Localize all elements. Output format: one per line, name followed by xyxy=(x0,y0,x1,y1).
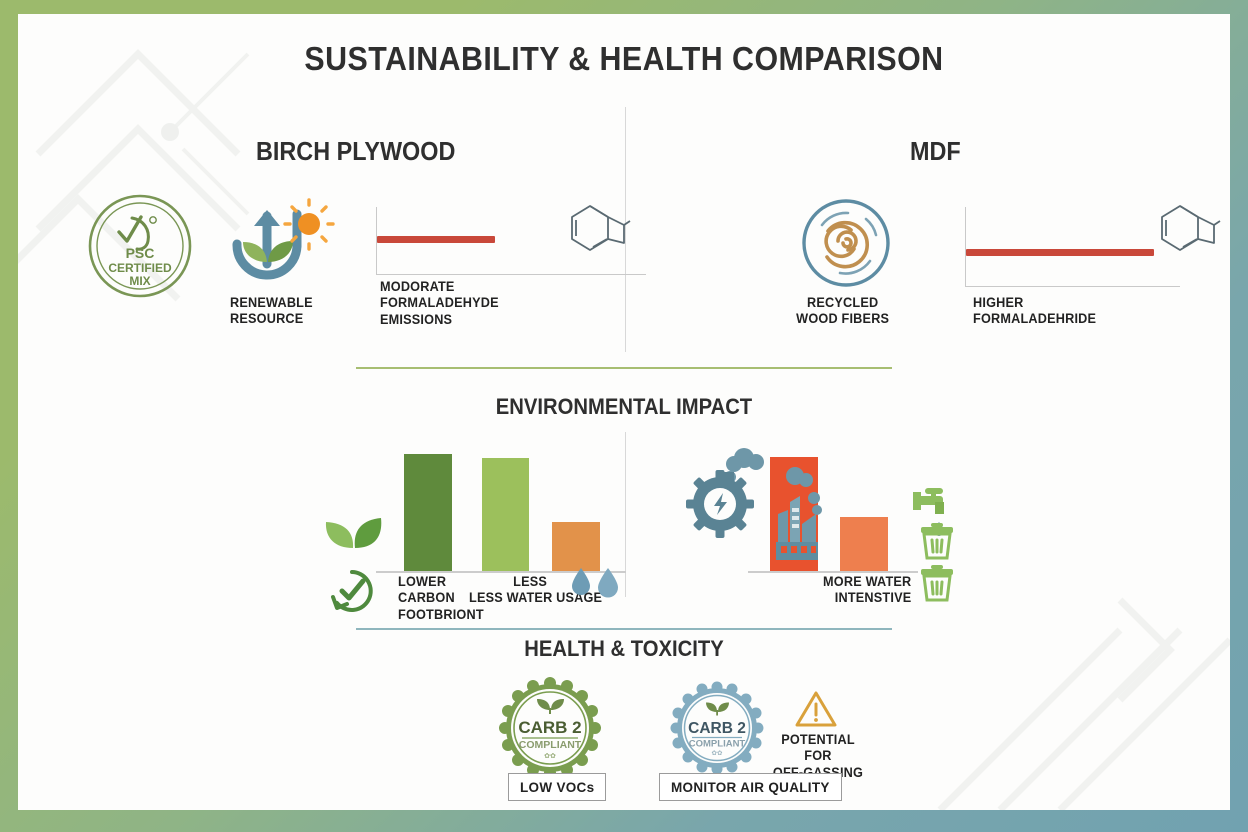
svg-text:✿✿: ✿✿ xyxy=(712,750,723,757)
column-heading-birch-plywood: BIRCH PLYWOOD xyxy=(256,136,455,167)
infographic-poster: SUSTAINABILITY & HEALTH COMPARISON BIRCH… xyxy=(0,0,1248,832)
column-heading-mdf: MDF xyxy=(910,136,961,167)
trash-bin-icon-1 xyxy=(918,522,956,560)
renewable-resource-icon xyxy=(221,202,333,290)
axis-vertical-line xyxy=(965,207,966,287)
poster-canvas: SUSTAINABILITY & HEALTH COMPARISON BIRCH… xyxy=(18,14,1230,810)
bar-less-water-usage xyxy=(482,458,529,571)
leaves-icon xyxy=(323,504,385,552)
mdf-formaldehyde-line2: FORMALADEHRIDE xyxy=(973,311,1096,327)
mdf-formaldehyde-bar xyxy=(966,249,1154,256)
carb2-compliant-seal-green: CARB 2 COMPLIANT ✿✿ xyxy=(502,680,598,776)
water-drop-icon-2 xyxy=(597,567,619,597)
recycle-check-icon xyxy=(328,567,376,615)
seal-line2: COMPLIANT xyxy=(689,739,746,750)
recycled-wood-fibers-caption: RECYCLED WOOD FIBERS xyxy=(791,295,894,328)
plywood-formaldehyde-bar xyxy=(377,236,495,243)
section-title-health-toxicity: HEALTH & TOXICITY xyxy=(66,636,1181,662)
fsc-certified-mix-seal: PSC CERTIFIED MIX xyxy=(86,192,194,300)
seal-line2: COMPLIANT xyxy=(519,739,582,751)
plywood-formaldehyde-line1: MODORATE xyxy=(380,279,499,295)
bar-more-water-intensive xyxy=(840,517,888,571)
mdf-formaldehyde-line1: HIGHER xyxy=(973,295,1096,311)
bar-lower-carbon-footprint xyxy=(404,454,452,571)
seal-line1: CARB 2 xyxy=(518,718,581,737)
plywood-formaldehyde-line2: FORMALADEHYDE xyxy=(380,295,499,311)
renewable-resource-caption-line2: RESOURCE xyxy=(230,311,303,327)
recycled-wood-fibers-icon xyxy=(800,197,892,289)
axis-horizontal-line xyxy=(965,286,1180,287)
seal-text-certified: CERTIFIED xyxy=(108,261,172,275)
seal-text-psc: PSC xyxy=(126,245,155,261)
tag-monitor-air-quality[interactable]: MONITOR AIR QUALITY xyxy=(659,773,842,801)
plywood-formaldehyde-line3: EMISSIONS xyxy=(380,312,499,328)
formaldehyde-molecule-icon-right xyxy=(1144,197,1220,269)
label-more-water-line2: INTENSTIVE xyxy=(808,590,911,606)
mdf-formaldehyde-caption: HIGHER FORMALADEHRIDE xyxy=(973,295,1096,328)
carb2-compliant-seal-blue: CARB 2 COMPLIANT ✿✿ xyxy=(673,684,761,772)
svg-text:✿✿: ✿✿ xyxy=(544,753,556,760)
label-lower-carbon-line3: FOOTBRIONT xyxy=(398,607,484,623)
environmental-impact-divider xyxy=(356,367,892,369)
formaldehyde-molecule-icon-left xyxy=(554,197,630,269)
label-more-water-line1: MORE WATER xyxy=(808,574,911,590)
water-drop-icon-1 xyxy=(571,567,591,595)
warning-triangle-icon xyxy=(795,690,837,728)
page-title: SUSTAINABILITY & HEALTH COMPARISON xyxy=(66,40,1181,78)
section-title-environmental-impact: ENVIRONMENTAL IMPACT xyxy=(66,394,1181,420)
renewable-resource-caption: RENEWABLE RESOURCE xyxy=(230,295,303,328)
energy-gear-icon xyxy=(686,444,772,536)
label-more-water-intensive: MORE WATER INTENSTIVE xyxy=(808,574,911,607)
trash-bin-icon-2 xyxy=(918,564,956,602)
seal-text-mix: MIX xyxy=(129,274,150,288)
plywood-formaldehyde-caption: MODORATE FORMALADEHYDE EMISSIONS xyxy=(380,279,499,328)
bar-waste xyxy=(552,522,600,571)
mdf-chart-baseline xyxy=(748,571,918,573)
seal-line1: CARB 2 xyxy=(688,720,746,737)
health-toxicity-divider xyxy=(356,628,892,630)
recycled-wood-fibers-line2: WOOD FIBERS xyxy=(791,311,894,327)
off-gassing-line1: POTENTIAL FOR xyxy=(771,732,865,765)
recycled-wood-fibers-line1: RECYCLED xyxy=(791,295,894,311)
axis-horizontal-line xyxy=(376,274,646,275)
tag-low-vocs[interactable]: LOW VOCs xyxy=(508,773,606,801)
factory-smoke-icon xyxy=(770,466,832,571)
renewable-resource-caption-line1: RENEWABLE xyxy=(230,295,303,311)
